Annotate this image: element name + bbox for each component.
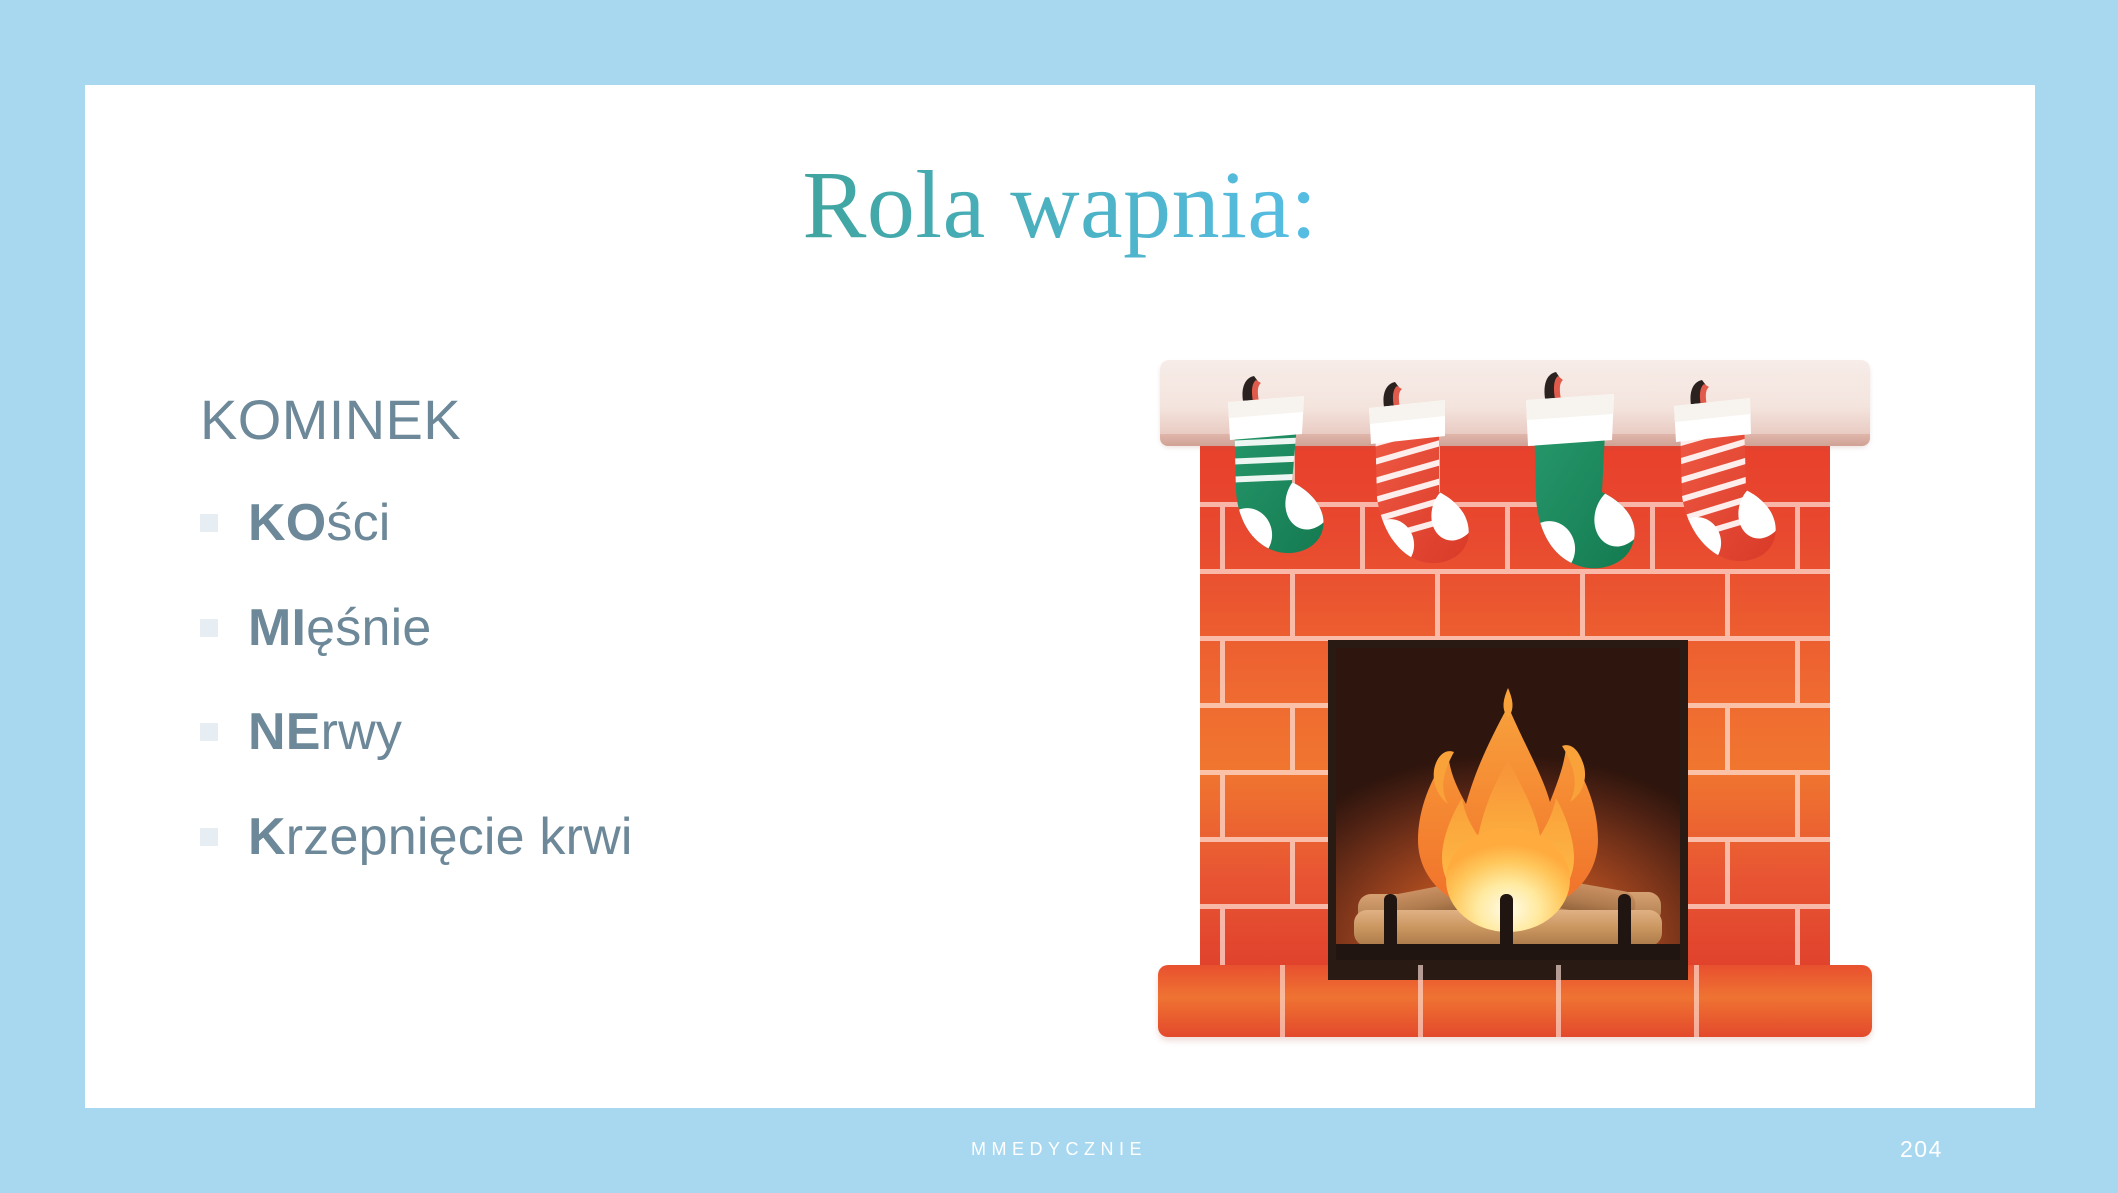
list-item-label: Krzepnięcie krwi bbox=[248, 810, 633, 865]
page-title: Rola wapnia: bbox=[85, 152, 2035, 258]
bullet-square-icon bbox=[200, 619, 218, 637]
list-item: Krzepnięcie krwi bbox=[200, 810, 1020, 865]
page-number: 204 bbox=[1900, 1136, 2020, 1163]
slide: Rola wapnia: KOMINEK KOści MIęśnie NErwy… bbox=[0, 0, 2118, 1193]
list-item-label: KOści bbox=[248, 496, 391, 551]
list-item: NErwy bbox=[200, 705, 1020, 760]
stocking-red-striped-2-icon bbox=[1640, 378, 1790, 578]
list-item-rest: rwy bbox=[321, 703, 402, 761]
stocking-green-plain-icon bbox=[1490, 370, 1650, 580]
grate-floor bbox=[1336, 944, 1680, 960]
list-item-bold: K bbox=[248, 808, 286, 866]
list-item: KOści bbox=[200, 496, 1020, 551]
list-item-rest: rzepnięcie krwi bbox=[286, 808, 633, 866]
list-item-rest: ści bbox=[326, 494, 390, 552]
stocking-red-striped-icon bbox=[1335, 380, 1485, 580]
content-list: KOMINEK KOści MIęśnie NErwy Krzepnięcie … bbox=[200, 392, 1020, 864]
list-item: MIęśnie bbox=[200, 601, 1020, 656]
bullet-square-icon bbox=[200, 514, 218, 532]
footer-brand: MMEDYCZNIE bbox=[0, 1139, 2118, 1160]
list-heading: KOMINEK bbox=[200, 392, 1020, 448]
stocking-green-striped-icon bbox=[1192, 372, 1342, 572]
christmas-fireplace-illustration bbox=[1150, 360, 1870, 1060]
bullet-square-icon bbox=[200, 828, 218, 846]
bullet-square-icon bbox=[200, 723, 218, 741]
list-item-label: NErwy bbox=[248, 705, 402, 760]
list-item-label: MIęśnie bbox=[248, 601, 431, 656]
list-item-bold: NE bbox=[248, 703, 321, 761]
firebox bbox=[1336, 648, 1680, 960]
list-item-bold: KO bbox=[248, 494, 326, 552]
list-item-rest: ęśnie bbox=[306, 599, 431, 657]
list-item-bold: MI bbox=[248, 599, 306, 657]
